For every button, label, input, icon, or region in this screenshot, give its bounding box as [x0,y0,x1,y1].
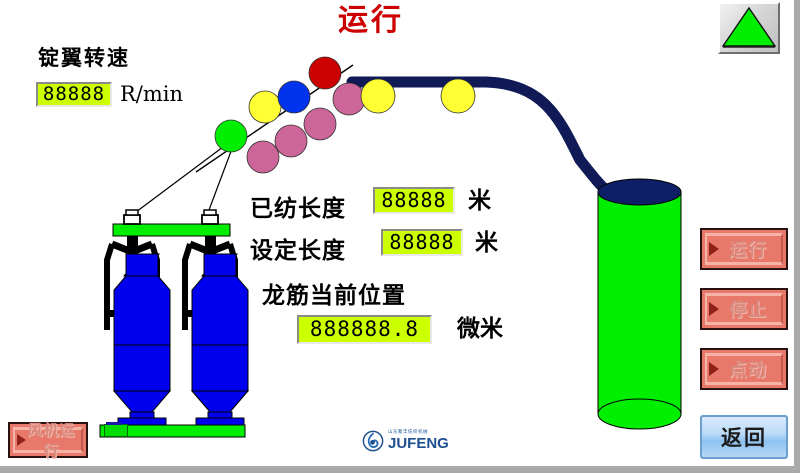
ball-green [215,120,247,152]
set-length-value[interactable]: 88888 [381,229,463,256]
spun-length-value[interactable]: 88888 [373,187,455,214]
brand-logo: 山东聚丰纺织机械 JUFENG [362,430,449,452]
play-arrow-icon [17,434,26,446]
rail-position-label: 龙筋当前位置 [262,276,406,310]
ball-red [309,57,341,89]
play-arrow-icon [709,362,719,376]
hmi-screen: 运行 锭翼转速 88888 R/min 已纺长度 88888 米 设定长度 88… [0,0,800,473]
flyer-spindle-machine [100,210,248,437]
bobbin-right [192,254,248,427]
ball-pink-2 [275,125,307,157]
spindle-speed-unit: R/min [120,82,183,107]
bobbin-left [114,254,170,427]
spindle-speed-value[interactable]: 88888 [36,82,112,107]
ball-yellow-2 [361,79,395,113]
fan-status-indicator [104,424,128,437]
spun-length-unit: 米 [468,188,491,215]
ball-pink-3 [304,108,336,140]
ball-yellow-1 [249,91,281,123]
run-button-label: 运行 [719,236,781,262]
spindle-speed-label: 锭翼转速 [38,42,130,72]
return-button-label: 返回 [721,422,767,452]
stop-button[interactable]: 停止 [700,288,788,330]
jog-button-label: 点动 [719,356,781,382]
triangle-up-icon [720,4,778,52]
set-length-unit: 米 [475,230,498,257]
return-button[interactable]: 返回 [700,415,788,459]
ball-pink-1 [247,141,279,173]
spun-length-label: 已纺长度 [250,189,346,223]
rail-position-unit: 微米 [457,315,503,344]
run-button[interactable]: 运行 [700,228,788,270]
set-length-label: 设定长度 [250,231,346,265]
ball-blue [278,81,310,113]
ball-pink-4 [333,83,365,115]
triangle-up-button[interactable] [718,2,780,54]
fan-run-button-label: 风机运行 [26,419,81,461]
stop-button-label: 停止 [719,296,781,322]
upper-rail [113,224,230,236]
play-arrow-icon [709,242,719,256]
bobbin-balls-group [215,57,475,173]
can-top-opening [598,179,681,205]
page-title: 运行 [338,2,404,40]
fan-run-button[interactable]: 风机运行 [8,422,88,458]
jufeng-swirl-icon [362,430,384,452]
sliver-can [598,179,681,429]
play-arrow-icon [709,302,719,316]
rail-position-value[interactable]: 888888.8 [297,315,432,344]
jog-button[interactable]: 点动 [700,348,788,390]
brand-name: JUFENG [388,436,449,451]
ball-yellow-3 [441,79,475,113]
